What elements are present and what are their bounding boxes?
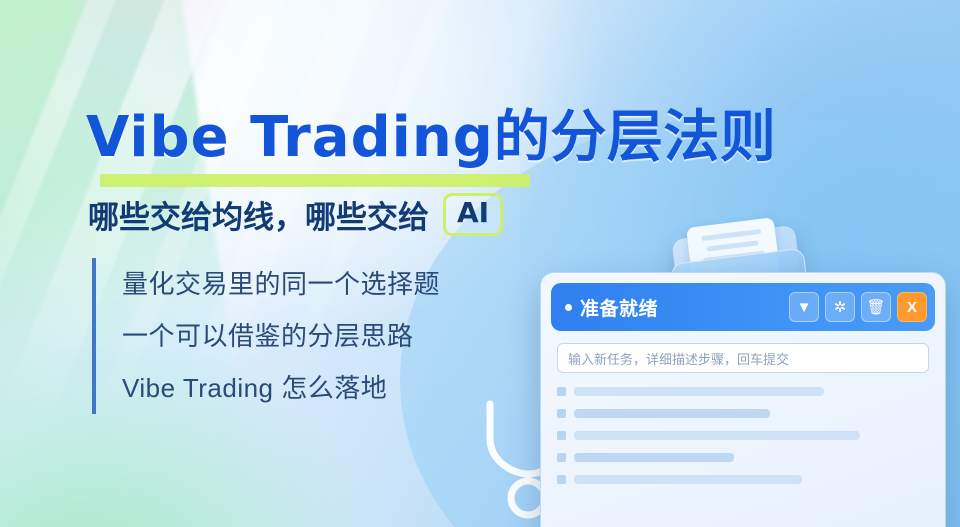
close-icon[interactable]: X — [897, 292, 927, 322]
app-titlebar: 准备就绪 ▼ ✲ 🗑 X — [551, 283, 935, 331]
paper-line — [701, 229, 761, 241]
list-item-placeholder — [574, 475, 802, 484]
list-item: 一个可以借鉴的分层思路 — [122, 310, 440, 362]
headline-english: Vibe Trading — [86, 105, 494, 170]
list-item-marker — [557, 431, 566, 440]
chevron-down-icon[interactable]: ▼ — [789, 292, 819, 322]
list-item — [557, 431, 929, 440]
list-item — [557, 409, 929, 418]
headline-chinese: 的分层法则 — [494, 105, 777, 168]
page-title: Vibe Trading的分层法则 — [86, 108, 846, 168]
list-item-placeholder — [574, 453, 734, 462]
list-item-marker — [557, 453, 566, 462]
new-task-input[interactable]: 输入新任务，详细描述步骤，回车提交 — [557, 343, 929, 373]
list-item: Vibe Trading 怎么落地 — [122, 362, 440, 414]
gear-icon[interactable]: ✲ — [825, 292, 855, 322]
bullet-list: 量化交易里的同一个选择题 一个可以借鉴的分层思路 Vibe Trading 怎么… — [92, 258, 440, 414]
list-item — [557, 387, 929, 396]
paper-line — [706, 240, 758, 251]
app-title-text: 准备就绪 — [580, 294, 658, 321]
headline-block: Vibe Trading的分层法则 — [86, 108, 846, 168]
list-item — [557, 453, 929, 462]
list-item-placeholder — [574, 409, 770, 418]
list-item-placeholder — [574, 431, 860, 440]
list-item — [557, 475, 929, 484]
list-item-marker — [557, 475, 566, 484]
trash-icon[interactable]: 🗑 — [861, 292, 891, 322]
headline-underline — [100, 174, 530, 187]
list-item-placeholder — [574, 387, 824, 396]
app-window: 准备就绪 ▼ ✲ 🗑 X 输入新任务，详细描述步骤，回车提交 — [540, 272, 946, 527]
task-list — [557, 387, 929, 484]
app-title: 准备就绪 — [565, 294, 658, 321]
promo-banner: Vibe Trading的分层法则 哪些交给均线，哪些交给 AI 量化交易里的同… — [0, 0, 960, 527]
status-dot-icon — [565, 304, 572, 311]
list-item-marker — [557, 409, 566, 418]
subtitle: 哪些交给均线，哪些交给 AI — [88, 192, 503, 237]
list-item-marker — [557, 387, 566, 396]
list-item: 量化交易里的同一个选择题 — [122, 258, 440, 310]
ai-badge: AI — [443, 193, 503, 236]
titlebar-actions: ▼ ✲ 🗑 X — [789, 292, 927, 322]
subtitle-text: 哪些交给均线，哪些交给 — [88, 192, 429, 237]
new-task-placeholder: 输入新任务，详细描述步骤，回车提交 — [568, 349, 789, 368]
